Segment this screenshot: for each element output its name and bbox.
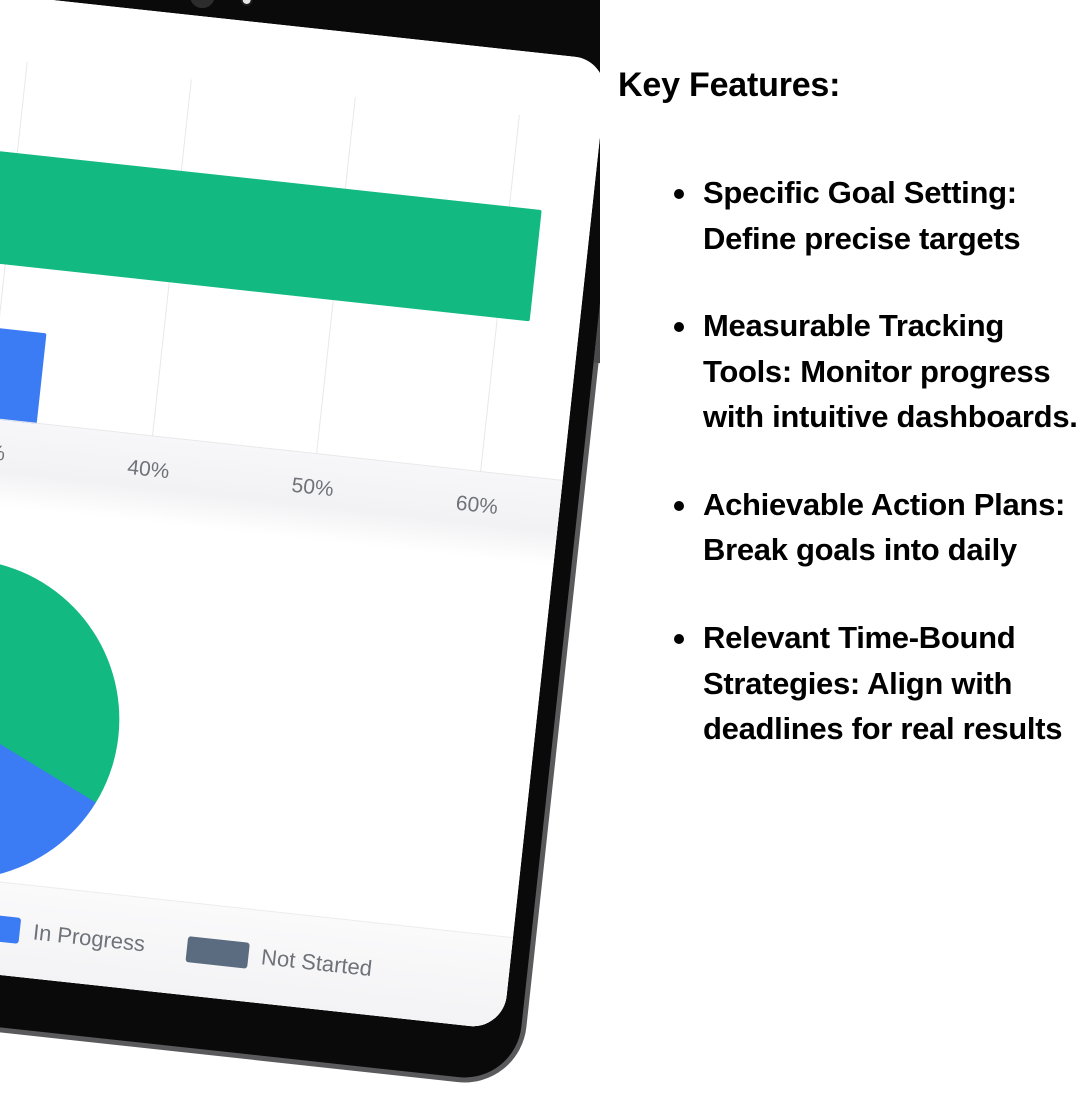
bar-completed[interactable] xyxy=(0,120,542,322)
tablet-body: 20%30%40%50%60% CompletedIn ProgressNot … xyxy=(0,0,639,1089)
pie-chart-panel: CompletedIn ProgressNot Started xyxy=(0,477,553,1029)
light-sensor-icon xyxy=(240,0,253,7)
features-list: Specific Goal Setting: Define precise ta… xyxy=(660,170,1080,794)
legend-label: Not Started xyxy=(260,944,373,982)
feature-text: Measurable Tracking Tools: Monitor progr… xyxy=(703,308,1078,434)
feature-list-item: Specific Goal Setting: Define precise ta… xyxy=(660,170,1080,261)
feature-text: Achievable Action Plans: Break goals int… xyxy=(703,487,1065,568)
feature-text: Specific Goal Setting: Define precise ta… xyxy=(703,175,1020,256)
tablet-screen: 20%30%40%50%60% CompletedIn ProgressNot … xyxy=(0,0,608,1030)
dashboard-app: 20%30%40%50%60% CompletedIn ProgressNot … xyxy=(0,0,608,1030)
legend-label: In Progress xyxy=(32,919,147,957)
feature-text: Relevant Time-Bound Strategies: Align wi… xyxy=(703,620,1062,746)
bullet-icon xyxy=(674,634,684,644)
tablet-device: 20%30%40%50%60% CompletedIn ProgressNot … xyxy=(0,0,659,1106)
x-axis-tick-label: 60% xyxy=(455,492,499,520)
legend-item[interactable]: In Progress xyxy=(0,911,146,957)
page-title: Key Features: xyxy=(618,66,840,105)
bullet-icon xyxy=(674,189,684,199)
key-features-panel: Key Features: Specific Goal Setting: Def… xyxy=(600,0,1080,1080)
pie-chart xyxy=(0,543,136,896)
bullet-icon xyxy=(674,501,684,511)
feature-list-item: Achievable Action Plans: Break goals int… xyxy=(660,482,1080,573)
front-camera-icon xyxy=(189,0,217,9)
feature-list-item: Measurable Tracking Tools: Monitor progr… xyxy=(660,303,1080,440)
legend-swatch xyxy=(185,936,249,969)
legend-swatch xyxy=(0,911,22,944)
x-axis-tick-label: 40% xyxy=(126,456,170,484)
x-axis-tick-label: 50% xyxy=(290,474,334,502)
bullet-icon xyxy=(674,322,684,332)
legend-item[interactable]: Not Started xyxy=(185,936,373,982)
bar-chart-panel: 20%30%40%50%60% xyxy=(0,25,602,567)
chart-legend: CompletedIn ProgressNot Started xyxy=(0,848,513,1030)
x-axis-tick-label: 30% xyxy=(0,438,6,466)
feature-list-item: Relevant Time-Bound Strategies: Align wi… xyxy=(660,615,1080,752)
